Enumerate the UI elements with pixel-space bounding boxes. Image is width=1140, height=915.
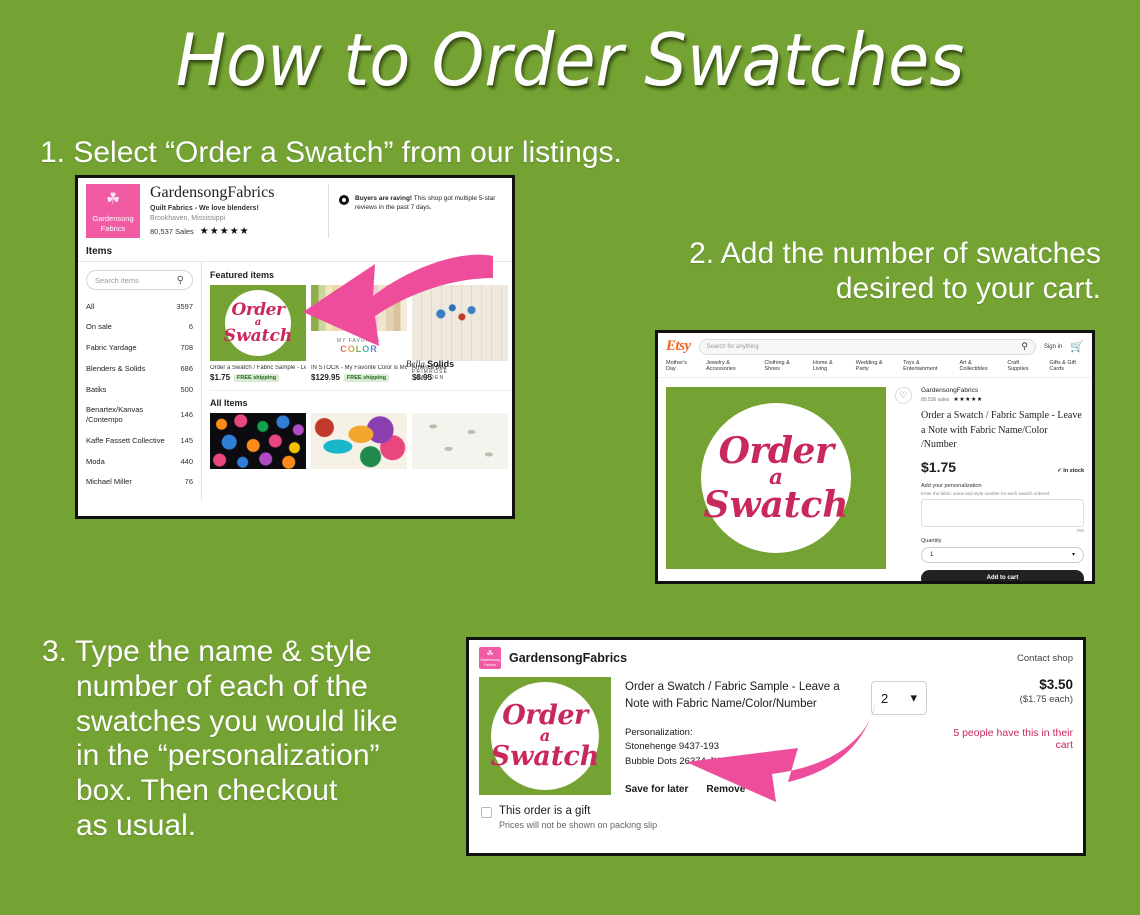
category-label: Moda xyxy=(86,457,105,467)
shop-logo: ☘ Gardensong Fabrics xyxy=(86,184,140,238)
badge-icon xyxy=(339,195,349,205)
search-items-placeholder: Search items xyxy=(95,276,139,285)
gift-sublabel: Prices will not be shown on packing slip xyxy=(499,820,657,830)
shop-sales-count: 80,537 Sales xyxy=(150,227,194,236)
nav-home-living[interactable]: Home & Living xyxy=(813,360,842,372)
remove-button[interactable]: Remove xyxy=(706,784,745,795)
nav-mothers-day[interactable]: Mother's Day xyxy=(666,360,692,372)
page-title: How to Order Swatches xyxy=(40,18,1100,102)
primrose-garden-label: PRIMROSE GARDEN xyxy=(399,369,461,381)
save-for-later-button[interactable]: Save for later xyxy=(625,784,688,795)
favorite-heart-icon[interactable]: ♡ xyxy=(895,387,912,404)
shop-logo-line2: Fabrics xyxy=(484,663,496,667)
featured-card-my-favorite-color[interactable]: MY FAVORITE COLOR IN STOCK - My Favorite… xyxy=(311,285,407,382)
sidebar-item-all[interactable]: All 3597 xyxy=(86,296,193,317)
star-rating-icon: ★★★★★ xyxy=(200,226,250,237)
sidebar-item-benartex[interactable]: Benartex/Kanvas /Contempo 146 xyxy=(86,400,193,431)
step-3-line-3: swatches you would like xyxy=(42,705,442,740)
swatch-word-order: Order xyxy=(719,434,834,468)
sidebar-item-batiks[interactable]: Batiks 500 xyxy=(86,379,193,400)
personalization-label: Add your personalization xyxy=(921,483,1084,489)
star-rating-icon: ★★★★★ xyxy=(953,396,982,403)
listing-seller-sales: 80,536 sales xyxy=(921,397,949,403)
cart-price-column: $3.50 ($1.75 each) 5 people have this in… xyxy=(941,677,1073,795)
sidebar-item-on-sale[interactable]: On sale 6 xyxy=(86,317,193,338)
cart-quantity-select[interactable]: 2 ▾ xyxy=(871,681,927,715)
shop-location: Brookhaven, Mississippi xyxy=(150,215,328,222)
cart-icon[interactable]: 🛒 xyxy=(1070,340,1084,353)
cart-price-total: $3.50 xyxy=(941,677,1073,692)
bella-brand: Bella Solids xyxy=(399,359,461,369)
category-count: 146 xyxy=(176,410,193,420)
sidebar-item-blenders-solids[interactable]: Blenders & Solids 686 xyxy=(86,358,193,379)
step-2-line-1: 2. Add the number of swatches xyxy=(651,237,1101,272)
sidebar-item-michael-miller[interactable]: Michael Miller 76 xyxy=(86,472,193,493)
screenshot-listing-page: Etsy Search for anything ⚲ Sign in 🛒 Mot… xyxy=(655,330,1095,584)
etsy-category-nav: Mother's Day Jewelry & Accessories Cloth… xyxy=(658,360,1092,378)
personalization-char-count: 256 xyxy=(921,528,1084,533)
listing-price: $1.75 xyxy=(921,459,956,475)
nav-jewelry[interactable]: Jewelry & Accessories xyxy=(706,360,750,372)
shop-name: GardensongFabrics xyxy=(150,184,328,202)
cart-item-details: Order a Swatch / Fabric Sample - Leave a… xyxy=(625,677,857,795)
shop-logo: ☘ Gardensong Fabrics xyxy=(479,647,501,669)
gift-checkbox[interactable] xyxy=(481,807,492,818)
step-3-line-4: in the “personalization” xyxy=(42,739,442,774)
category-count: 76 xyxy=(181,477,193,487)
nav-toys[interactable]: Toys & Entertainment xyxy=(903,360,945,372)
step-1-heading: 1. Select “Order a Swatch” from our list… xyxy=(40,136,622,171)
items-heading: Items xyxy=(78,238,512,262)
cart-personalization-line-2: Bubble Dots 26374-JX xyxy=(625,755,857,770)
featured-price: $1.75 xyxy=(210,373,230,382)
step-2-heading: 2. Add the number of swatches desired to… xyxy=(651,237,1101,307)
cart-price-each: ($1.75 each) xyxy=(941,694,1073,705)
all-items-heading: All Items xyxy=(210,390,512,408)
in-stock-badge: ✓ In stock xyxy=(1057,468,1084,474)
all-items-thumb-paisley[interactable] xyxy=(311,413,407,469)
leaf-icon: ☘ xyxy=(86,190,140,210)
reviews-banner-bold: Buyers are raving! xyxy=(355,195,412,202)
category-label: Benartex/Kanvas /Contempo xyxy=(86,405,170,425)
gift-option[interactable]: This order is a gift Prices will not be … xyxy=(469,795,1083,830)
reviews-banner-text: Buyers are raving! This shop got multipl… xyxy=(355,194,504,213)
listing-hero-image[interactable]: Order a Swatch xyxy=(666,387,886,569)
step-3-line-6: as usual. xyxy=(42,809,442,844)
category-count: 440 xyxy=(176,457,193,467)
category-count: 145 xyxy=(176,436,193,446)
featured-items-heading: Featured items xyxy=(210,270,512,280)
bella-solids-label: Bella Solids PRIMROSE GARDEN xyxy=(399,359,461,381)
etsy-header: Etsy Search for anything ⚲ Sign in 🛒 xyxy=(658,333,1092,360)
sidebar-item-moda[interactable]: Moda 440 xyxy=(86,451,193,472)
nav-clothing[interactable]: Clothing & Shoes xyxy=(764,360,798,372)
step-3-line-2: number of each of the xyxy=(42,670,442,705)
cart-personalization-label: Personalization: xyxy=(625,726,857,741)
shop-header: ☘ Gardensong Fabrics GardensongFabrics Q… xyxy=(78,178,512,238)
search-items-input[interactable]: Search items ⚲ xyxy=(86,270,193,290)
shop-tagline: Quilt Fabrics - We love blenders! xyxy=(150,205,328,212)
personalization-hint: Enter the fabric name and style number f… xyxy=(921,491,1084,496)
listing-seller-sales-row: 80,536 sales ★★★★★ xyxy=(921,396,1084,403)
cart-shop-name[interactable]: GardensongFabrics xyxy=(509,651,627,665)
free-shipping-badge: FREE shipping xyxy=(234,374,279,382)
shop-meta: GardensongFabrics Quilt Fabrics - We lov… xyxy=(140,184,328,238)
step-3-line-1: 3. Type the name & style xyxy=(42,635,442,670)
featured-title: IN STOCK - My Favorite Color is Moda ... xyxy=(311,365,407,371)
category-label: Batiks xyxy=(86,385,106,395)
shop-sales-row: 80,537 Sales ★★★★★ xyxy=(150,226,328,237)
category-count: 500 xyxy=(176,385,193,395)
floral-thumbnail xyxy=(412,285,508,361)
listing-title: Order a Swatch / Fabric Sample - Leave a… xyxy=(921,409,1084,453)
nav-art[interactable]: Art & Collectibles xyxy=(959,360,993,372)
quantity-value: 1 xyxy=(930,552,933,558)
featured-card-order-a-swatch[interactable]: Order a Swatch Order a Swatch / Fabric S… xyxy=(210,285,306,382)
featured-price: $129.95 xyxy=(311,373,340,382)
listing-seller-name[interactable]: GardensongFabrics xyxy=(921,387,1084,394)
listing-details: GardensongFabrics 80,536 sales ★★★★★ Ord… xyxy=(921,387,1084,574)
category-count: 3597 xyxy=(172,302,193,312)
order-a-swatch-thumbnail: Order a Swatch xyxy=(210,285,306,361)
gift-label: This order is a gift xyxy=(499,805,657,817)
nav-craft-supplies[interactable]: Craft Supplies xyxy=(1007,360,1035,372)
etsy-search-input[interactable]: Search for anything ⚲ xyxy=(699,339,1036,355)
etsy-search-placeholder: Search for anything xyxy=(707,344,759,350)
shop-logo-line2: Fabrics xyxy=(101,224,126,233)
chevron-down-icon: ▾ xyxy=(910,690,917,706)
free-shipping-badge: FREE shipping xyxy=(344,374,389,382)
all-items-thumb-dots[interactable] xyxy=(210,413,306,469)
search-icon[interactable]: ⚲ xyxy=(1021,341,1028,352)
thumb-line2: COLOR xyxy=(340,344,378,354)
step-3-heading: 3. Type the name & style number of each … xyxy=(42,635,442,844)
nav-gifts[interactable]: Gifts & Gift Cards xyxy=(1049,360,1084,372)
nav-wedding[interactable]: Wedding & Party xyxy=(856,360,889,372)
swatch-word-swatch: Swatch xyxy=(224,328,293,344)
screenshot-shop-page: ☘ Gardensong Fabrics GardensongFabrics Q… xyxy=(75,175,515,519)
quantity-label: Quantity xyxy=(921,538,1084,544)
leaf-icon: ☘ xyxy=(479,649,501,659)
search-icon: ⚲ xyxy=(177,275,184,286)
category-label: Blenders & Solids xyxy=(86,364,145,374)
swatch-word-order: Order xyxy=(502,703,588,729)
category-sidebar: Search items ⚲ All 3597 On sale 6 Fabric… xyxy=(78,262,202,500)
personalization-textarea[interactable] xyxy=(921,499,1084,527)
quantity-select[interactable]: 1 ▾ xyxy=(921,547,1084,563)
cart-demand-note: 5 people have this in their cart xyxy=(941,727,1073,751)
swatch-word-swatch: Swatch xyxy=(491,744,600,770)
category-label: All xyxy=(86,302,94,312)
cart-item-thumbnail[interactable]: Order a Swatch xyxy=(479,677,611,795)
category-count: 686 xyxy=(176,364,193,374)
chevron-down-icon: ▾ xyxy=(1072,551,1075,558)
reviews-banner: Buyers are raving! This shop got multipl… xyxy=(328,184,504,238)
cart-personalization: Personalization: Stonehenge 9437-193 Bub… xyxy=(625,726,857,770)
category-label: Michael Miller xyxy=(86,477,132,487)
solids-word: Solids xyxy=(427,359,454,369)
sidebar-item-fabric-yardage[interactable]: Fabric Yardage 708 xyxy=(86,338,193,359)
category-count: 6 xyxy=(185,322,193,332)
sign-in-link[interactable]: Sign in xyxy=(1044,344,1062,350)
category-label: On sale xyxy=(86,322,112,332)
all-items-thumb-leafy[interactable] xyxy=(412,413,508,469)
shop-logo-line1: Gardensong xyxy=(92,214,133,223)
cart-quantity-value: 2 xyxy=(881,691,888,706)
cart-item-title[interactable]: Order a Swatch / Fabric Sample - Leave a… xyxy=(625,679,857,714)
category-label: Fabric Yardage xyxy=(86,343,137,353)
bella-word: Bella xyxy=(406,359,425,369)
add-to-cart-button[interactable]: Add to cart xyxy=(921,570,1084,585)
sidebar-item-kaffe-fassett[interactable]: Kaffe Fassett Collective 145 xyxy=(86,430,193,451)
etsy-logo[interactable]: Etsy xyxy=(666,338,691,355)
swatch-word-swatch: Swatch xyxy=(703,488,848,522)
screenshot-cart-page: ☘ Gardensong Fabrics GardensongFabrics C… xyxy=(466,637,1086,856)
cart-personalization-line-1: Stonehenge 9437-193 xyxy=(625,740,857,755)
category-label: Kaffe Fassett Collective xyxy=(86,436,165,446)
step-2-line-2: desired to your cart. xyxy=(651,272,1101,307)
category-count: 708 xyxy=(176,343,193,353)
cart-shop-header: ☘ Gardensong Fabrics GardensongFabrics xyxy=(479,647,627,669)
featured-title: Order a Swatch / Fabric Sample - Leave..… xyxy=(210,365,306,371)
contact-shop-link[interactable]: Contact shop xyxy=(1017,653,1073,664)
step-3-line-5: box. Then checkout xyxy=(42,774,442,809)
shop-listings-panel: Featured items Order a Swatch Order a Sw… xyxy=(202,262,512,500)
stripes-thumbnail: MY FAVORITE COLOR xyxy=(311,285,407,361)
